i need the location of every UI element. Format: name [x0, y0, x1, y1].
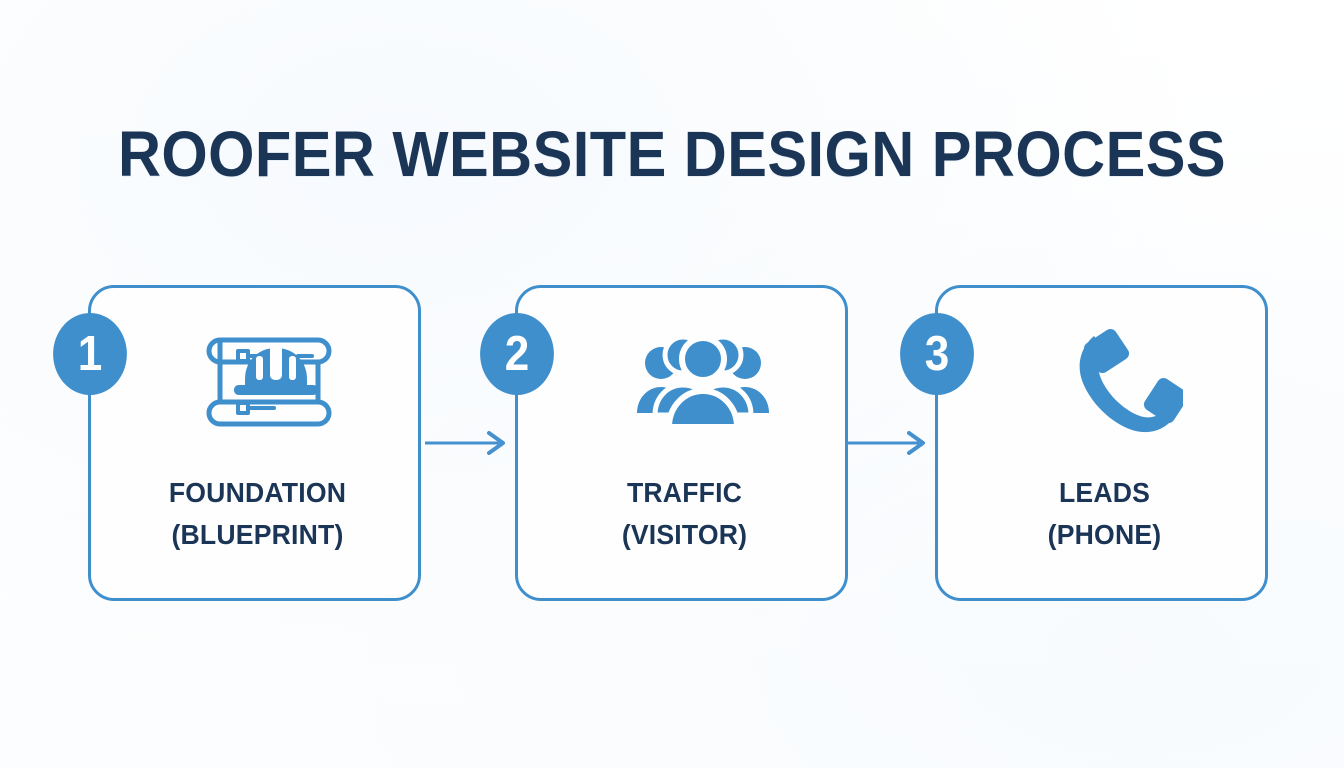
- process-step-label-2: TRAFFIC (VISITOR): [526, 472, 842, 556]
- arrow-right-icon: [425, 431, 515, 455]
- step-label-line2: (BLUEPRINT): [99, 514, 415, 556]
- process-flow-diagram: 1: [88, 285, 1262, 601]
- page-title: ROOFER WEBSITE DESIGN PROCESS: [47, 118, 1297, 190]
- blueprint-hardhat-icon: [91, 314, 424, 450]
- phone-handset-icon: [938, 314, 1271, 450]
- step-label-line1: FOUNDATION: [169, 477, 346, 508]
- step-label-line2: (PHONE): [946, 514, 1262, 556]
- step-label-line1: TRAFFIC: [627, 477, 742, 508]
- process-step-label-1: FOUNDATION (BLUEPRINT): [99, 472, 415, 556]
- process-step-card-3[interactable]: 3 LEADS (PHONE): [935, 285, 1268, 601]
- step-label-line2: (VISITOR): [526, 514, 842, 556]
- step-label-line1: LEADS: [1059, 477, 1150, 508]
- arrow-right-icon: [845, 431, 935, 455]
- process-step-label-3: LEADS (PHONE): [946, 472, 1262, 556]
- people-group-icon: [518, 314, 851, 450]
- process-step-card-1[interactable]: 1: [88, 285, 421, 601]
- process-step-card-2[interactable]: 2: [515, 285, 848, 601]
